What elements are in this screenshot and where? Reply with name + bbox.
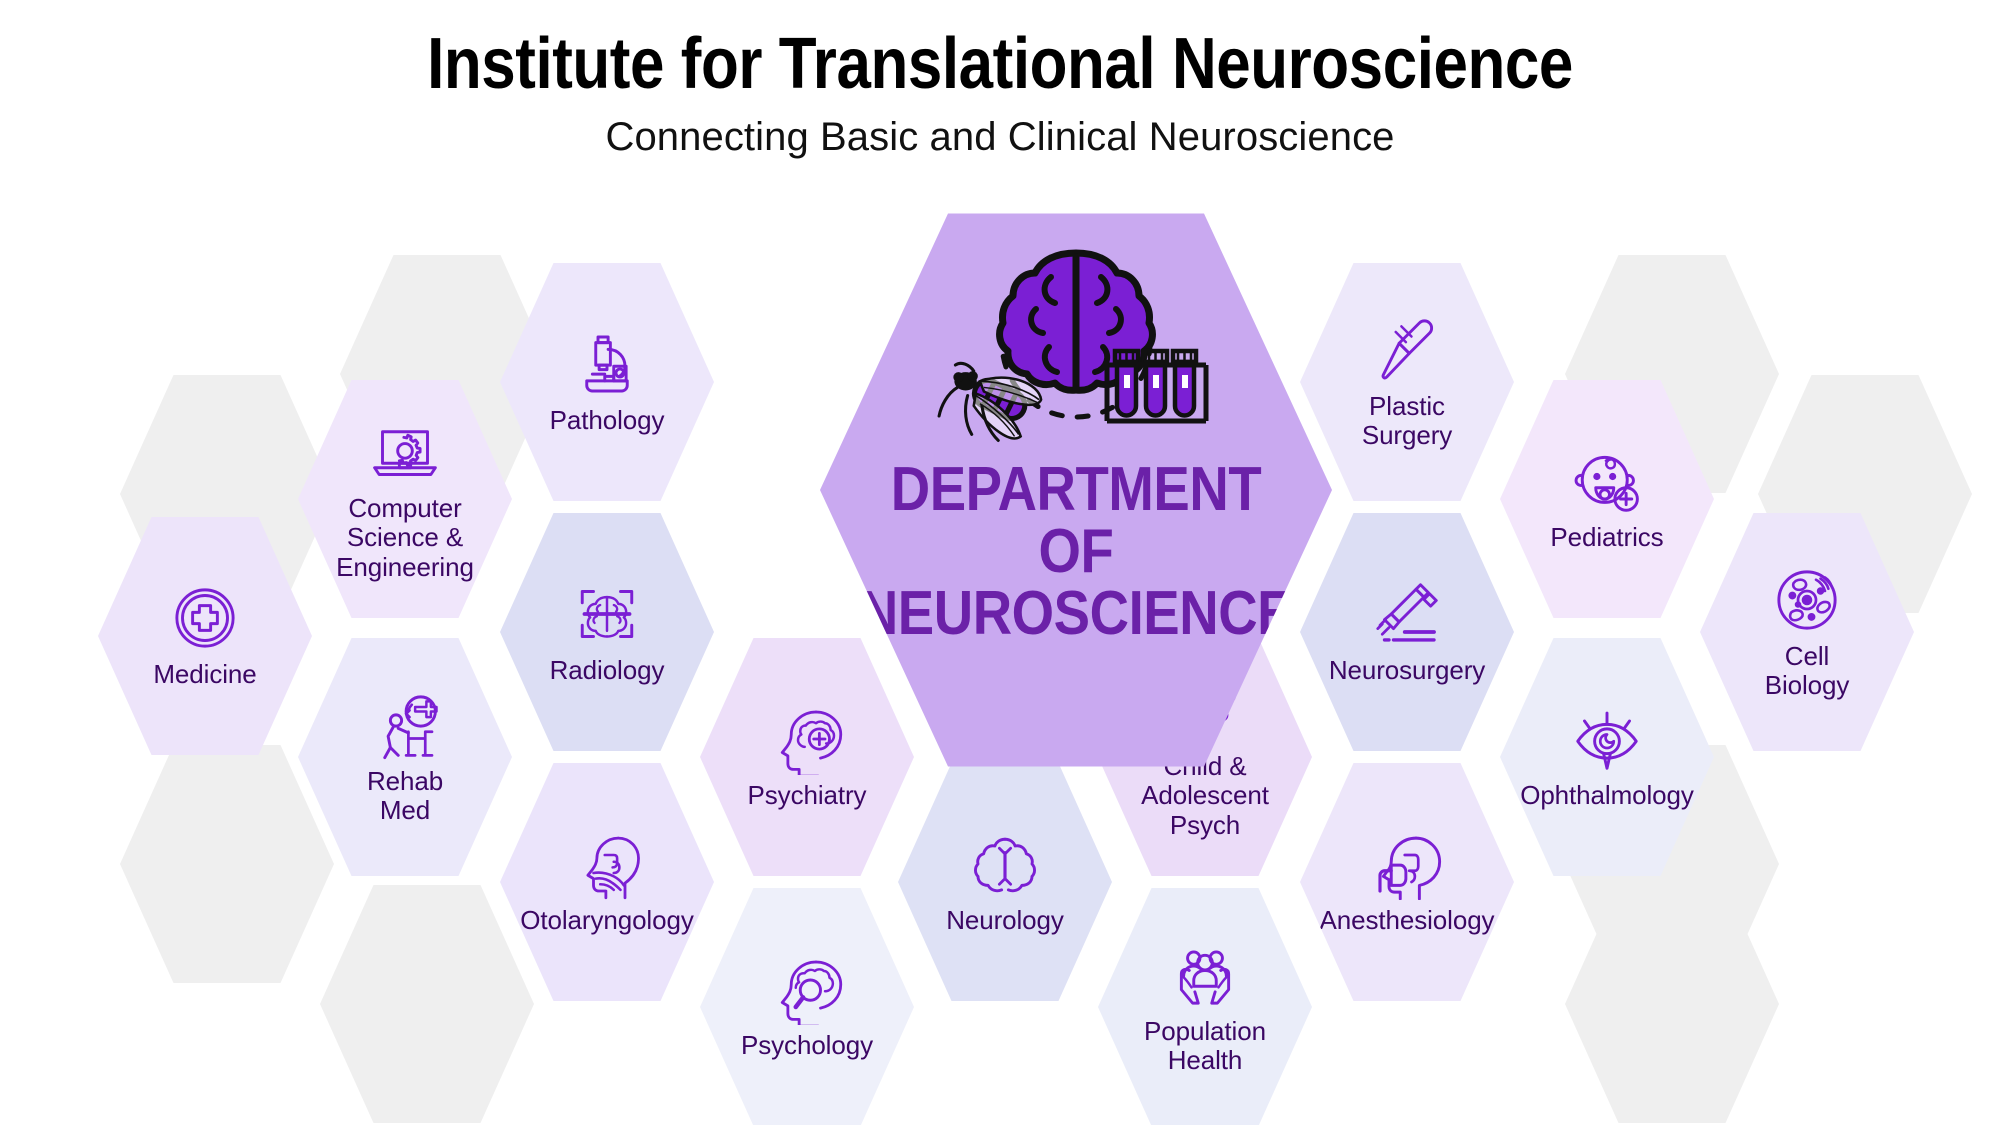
- hex-label: Pathology: [550, 406, 665, 435]
- medicine-cross-icon: [169, 582, 241, 654]
- infographic-canvas: Institute for Translational Neuroscience…: [0, 0, 2000, 1125]
- hex-label: Rehab Med: [367, 767, 443, 826]
- hex-plastic-surgery[interactable]: Plastic Surgery: [1300, 258, 1514, 506]
- hex-psychiatry[interactable]: Psychiatry: [700, 633, 914, 881]
- hex-label: Psychiatry: [748, 781, 867, 810]
- microscope-icon: [571, 328, 643, 400]
- hex-label: Ophthalmology: [1520, 781, 1694, 810]
- scalpel-icon: [1371, 314, 1443, 386]
- hex-rehab-med[interactable]: Rehab Med: [298, 633, 512, 881]
- hex-label: Cell Biology: [1765, 642, 1850, 701]
- brain-outline-icon: [969, 828, 1041, 900]
- hex-label: Psychology: [741, 1031, 873, 1060]
- brain-scan-icon: [571, 578, 643, 650]
- hands-people-icon: [1169, 939, 1241, 1011]
- hex-label: Otolaryngology: [520, 906, 693, 935]
- surgical-drill-icon: [1371, 578, 1443, 650]
- hex-label: Neurosurgery: [1329, 656, 1485, 685]
- walker-person-icon: [369, 689, 441, 761]
- hex-population-health[interactable]: Population Health: [1098, 883, 1312, 1125]
- head-magnifier-icon: [771, 953, 843, 1025]
- cell-icon: [1771, 564, 1843, 636]
- hex-label: Pediatrics: [1550, 523, 1663, 552]
- baby-plus-icon: [1571, 445, 1643, 517]
- hex-anesthesiology[interactable]: Anesthesiology: [1300, 758, 1514, 1006]
- hex-neurology[interactable]: Neurology: [898, 758, 1112, 1006]
- anesthesia-mask-icon: [1371, 828, 1443, 900]
- hex-label: Population Health: [1144, 1017, 1266, 1076]
- laptop-gear-icon: [369, 416, 441, 488]
- hex-pathology[interactable]: Pathology: [500, 258, 714, 506]
- eye-icon: [1571, 703, 1643, 775]
- center-title: DEPARTMENT OF NEUROSCIENCE: [851, 459, 1302, 645]
- hex-empty-empty-3: [120, 740, 334, 988]
- hex-label: Plastic Surgery: [1362, 392, 1452, 451]
- ent-head-icon: [571, 828, 643, 900]
- hex-label: Anesthesiology: [1320, 906, 1495, 935]
- head-brain-plus-icon: [771, 703, 843, 775]
- hex-psychology[interactable]: Psychology: [700, 883, 914, 1125]
- hex-label: Neurology: [946, 906, 1064, 935]
- hex-empty-empty-4: [320, 880, 534, 1125]
- hex-neurosurgery[interactable]: Neurosurgery: [1300, 508, 1514, 756]
- hex-label: Computer Science & Engineering: [336, 494, 474, 582]
- hex-otolaryngology[interactable]: Otolaryngology: [500, 758, 714, 1006]
- center-artwork: [931, 247, 1221, 447]
- hex-label: Radiology: [550, 656, 665, 685]
- hex-label: Medicine: [153, 660, 256, 689]
- hex-radiology[interactable]: Radiology: [500, 508, 714, 756]
